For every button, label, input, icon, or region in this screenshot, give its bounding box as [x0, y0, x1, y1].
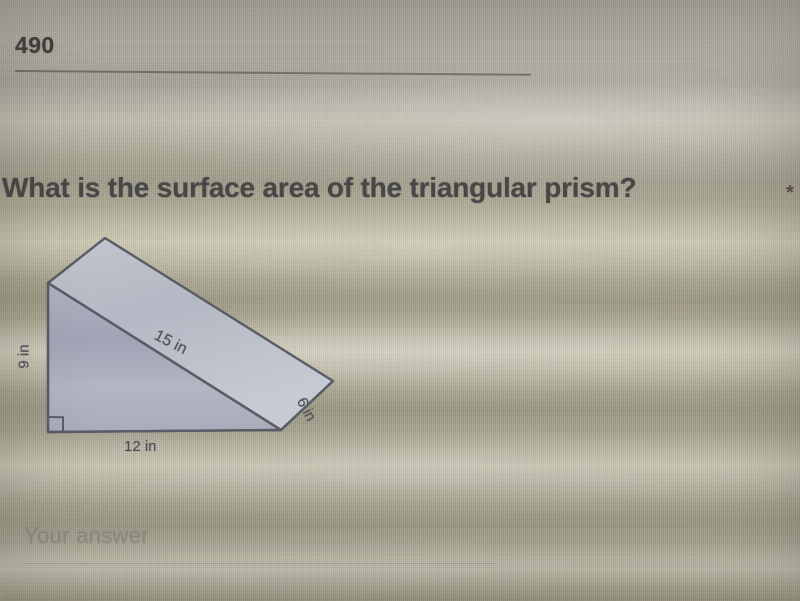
- form-content: 490 What is the surface area of the tria…: [0, 0, 800, 601]
- dimension-label-height: 9 in: [16, 344, 33, 368]
- section-number: 490: [15, 32, 55, 59]
- prism-svg: [0, 215, 380, 475]
- screen-photo: 490 What is the surface area of the tria…: [0, 0, 800, 601]
- required-asterisk: *: [786, 182, 794, 205]
- answer-input[interactable]: Your answer: [24, 523, 149, 549]
- question-title: What is the surface area of the triangul…: [2, 172, 636, 204]
- answer-underline: [24, 563, 494, 564]
- header-divider: [15, 70, 531, 76]
- triangular-prism-diagram: [0, 215, 380, 475]
- dimension-label-base: 12 in: [124, 438, 157, 455]
